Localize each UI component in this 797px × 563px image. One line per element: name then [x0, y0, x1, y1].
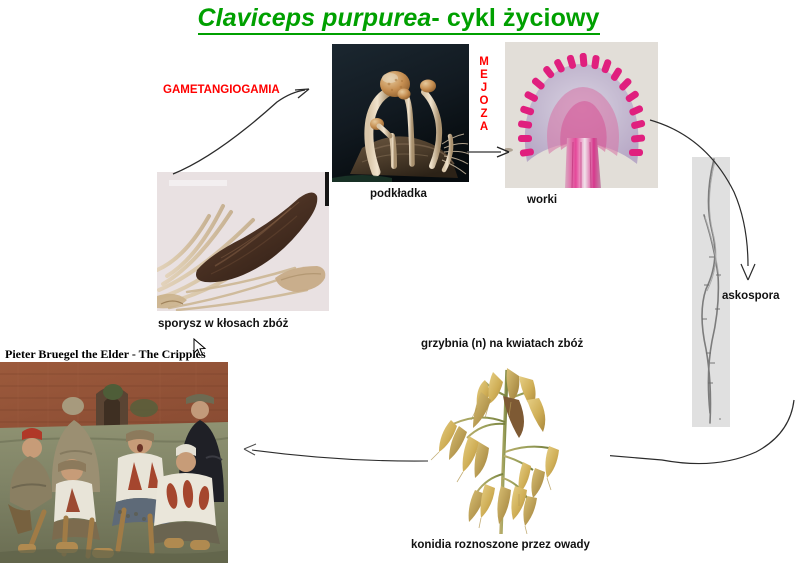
title-species: Claviceps purpurea	[198, 4, 432, 32]
podkladka-image	[332, 44, 469, 182]
arrow-worki-to-askospora	[648, 118, 768, 288]
oat-plant-image	[415, 356, 610, 534]
askospora-label: askospora	[722, 290, 780, 302]
slide-canvas: Claviceps purpurea- cykl życiowy	[0, 0, 797, 563]
sporysz-label: sporysz w kłosach zbóż	[158, 318, 288, 330]
arrow-oat-to-bruegel	[222, 428, 432, 468]
title-suffix: - cykl życiowy	[431, 4, 599, 32]
bruegel-caption: Pieter Bruegel the Elder - The Cripples	[5, 347, 206, 362]
worki-label: worki	[527, 194, 557, 206]
arrow-sporysz-to-podkladka	[165, 84, 315, 179]
konidia-label: konidia roznoszone przez owady	[411, 539, 590, 551]
arrow-podkladka-to-worki	[465, 138, 513, 164]
grzybnia-label: grzybnia (n) na kwiatach zbóż	[421, 338, 583, 350]
worki-image	[505, 42, 658, 188]
page-title: Claviceps purpurea- cykl życiowy	[0, 4, 797, 33]
mejoza-annotation: MEJOZA	[477, 56, 491, 134]
sporysz-image	[157, 172, 329, 311]
bruegel-painting	[0, 362, 228, 563]
podkladka-label: podkładka	[370, 188, 427, 200]
